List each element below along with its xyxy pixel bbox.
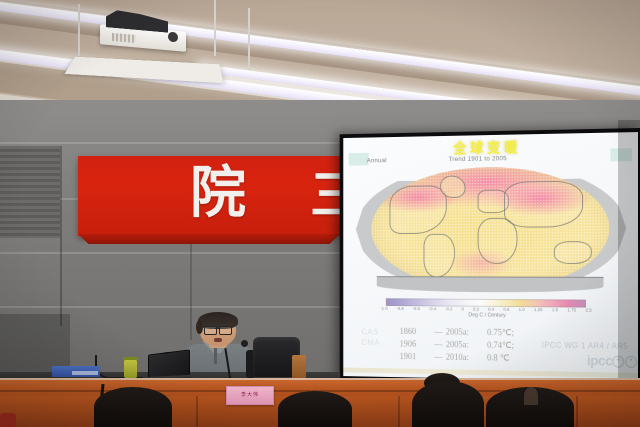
- watermark-cas: CAS: [361, 327, 380, 338]
- glasses-bridge: [215, 328, 219, 329]
- continent-asia: [504, 181, 583, 228]
- data-line-value: 0.74℃;: [487, 339, 514, 352]
- continent-antarctica: [377, 276, 604, 292]
- water-cup[interactable]: [124, 360, 137, 378]
- red-banner: 院 三: [78, 156, 340, 236]
- projector-rod: [78, 4, 80, 56]
- wall-panel: [60, 146, 62, 326]
- colorbar-axis-label: Deg C / Century: [343, 311, 638, 320]
- wall-louver-panel: [0, 146, 60, 238]
- screen-right-shadow: [618, 120, 640, 390]
- chair-armrest[interactable]: [292, 355, 306, 379]
- desk-seam: [398, 396, 400, 427]
- slide-watermark: CAS CMA: [361, 327, 380, 348]
- projector-rod: [214, 0, 216, 56]
- data-line-end: 2005a:: [446, 326, 487, 339]
- data-line-value: 0.75℃;: [487, 326, 514, 339]
- screenshot-root: 院 三 全球变暖 Annual Trend 1901 to 2005: [0, 0, 640, 427]
- ipcc-logo: ipcc: [587, 352, 612, 368]
- desk-seam: [196, 396, 198, 427]
- data-line-end: 2005a:: [446, 338, 487, 351]
- presenter-mouth: [214, 338, 222, 342]
- audience-head: [94, 387, 172, 427]
- data-line-start: 1860: [400, 325, 431, 338]
- data-line-start: 1901: [400, 350, 431, 363]
- slide-footer-band: [343, 367, 638, 377]
- presenter-placket: [214, 348, 217, 364]
- data-line-value: 0.8 ℃: [487, 352, 509, 365]
- banner-char-1: 院: [190, 166, 246, 222]
- name-card-text: 李大伟: [227, 391, 273, 398]
- projection-screen: 全球变暖 Annual Trend 1901 to 2005: [340, 128, 640, 388]
- glasses-icon: [219, 326, 232, 335]
- continent-greenland: [440, 175, 466, 198]
- data-line-dash: —: [431, 326, 446, 339]
- data-line: 1901 — 2010a: 0.8 ℃: [400, 350, 579, 366]
- screen-surface: 全球变暖 Annual Trend 1901 to 2005: [343, 132, 638, 382]
- continent-africa: [477, 218, 517, 264]
- slide-source-reference: IPCC WG 1 AR4 / AR5: [542, 341, 628, 351]
- continent-australia: [554, 241, 592, 264]
- presenter-hair-side: [196, 320, 203, 334]
- name-card: 李大伟: [226, 386, 274, 405]
- microphone-head[interactable]: [241, 340, 248, 347]
- data-line-start: 1906: [400, 338, 431, 351]
- projector-rod: [248, 8, 250, 70]
- world-map-figure: [356, 162, 626, 294]
- audience-hair-part: [524, 387, 538, 405]
- audience-head: [278, 391, 352, 427]
- data-line-end: 2010a:: [446, 351, 487, 364]
- data-line-dash: —: [431, 338, 446, 351]
- watermark-cma: CMA: [361, 337, 380, 348]
- audience-red-shoulder: [0, 413, 16, 427]
- data-line-dash: —: [431, 351, 446, 364]
- blue-box-label: [72, 371, 98, 375]
- audience-head: [412, 381, 484, 427]
- projector-lens: [168, 32, 178, 43]
- desk-seam: [576, 396, 578, 427]
- slide-global-warming: 全球变暖 Annual Trend 1901 to 2005: [343, 132, 638, 382]
